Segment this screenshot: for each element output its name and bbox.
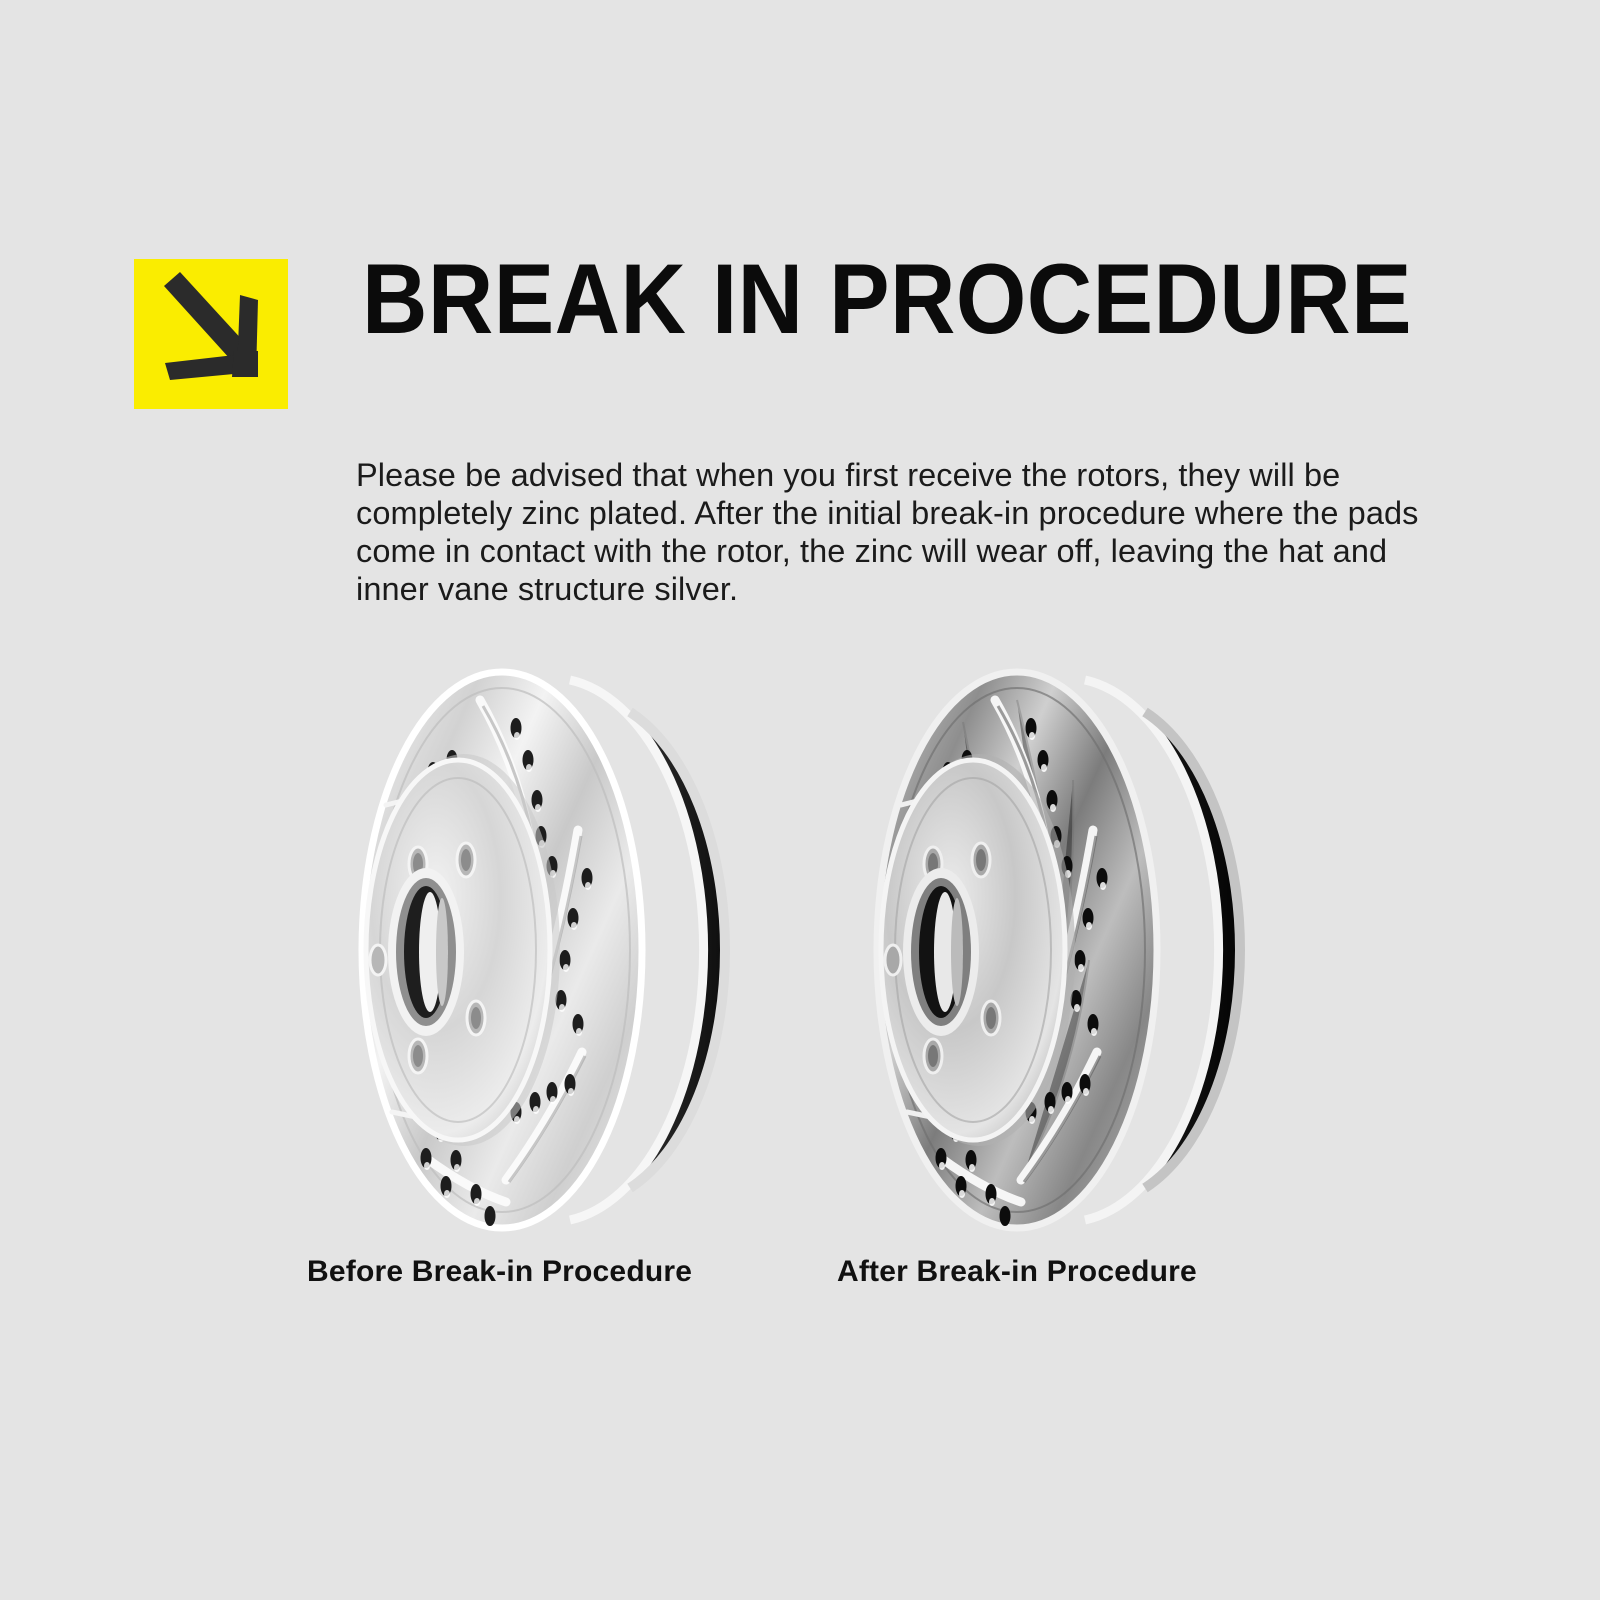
- caption-before: Before Break-in Procedure: [307, 1255, 692, 1289]
- figure-after-rotor: [845, 660, 1265, 1240]
- figure-before-rotor: [330, 660, 750, 1240]
- break-in-procedure-infographic: BREAK IN PROCEDURE Please be advised tha…: [0, 0, 1600, 1600]
- rotor-comparison: Before Break-in Procedure: [0, 0, 1600, 1600]
- caption-after: After Break-in Procedure: [837, 1255, 1197, 1289]
